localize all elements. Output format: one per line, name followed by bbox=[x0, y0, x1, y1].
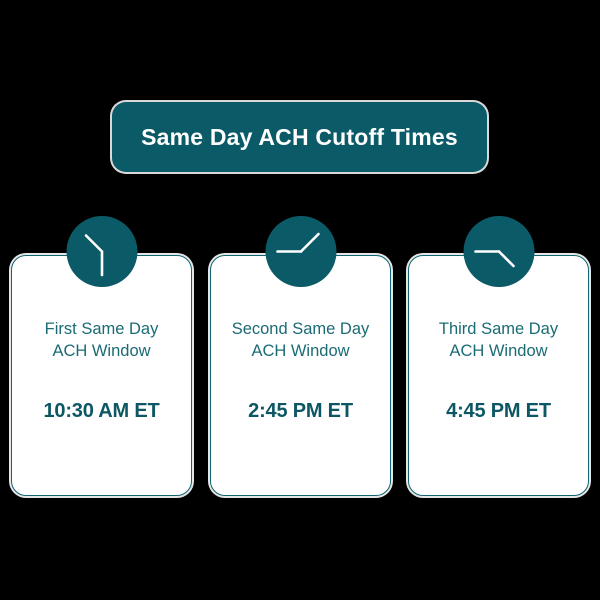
card-content: Second Same Day ACH Window 2:45 PM ET bbox=[211, 256, 390, 495]
card-window-label: Third Same Day ACH Window bbox=[439, 318, 558, 362]
cutoff-card: Third Same Day ACH Window 4:45 PM ET bbox=[408, 216, 589, 496]
card-window-label: First Same Day ACH Window bbox=[45, 318, 159, 362]
card-panel: Second Same Day ACH Window 2:45 PM ET bbox=[210, 255, 391, 496]
clock-icon bbox=[66, 216, 137, 287]
card-panel: First Same Day ACH Window 10:30 AM ET bbox=[11, 255, 192, 496]
cutoff-card-list: First Same Day ACH Window 10:30 AM ET Se… bbox=[0, 216, 600, 506]
card-window-label: Second Same Day ACH Window bbox=[232, 318, 370, 362]
page-title: Same Day ACH Cutoff Times bbox=[141, 124, 458, 151]
header-banner: Same Day ACH Cutoff Times bbox=[112, 102, 487, 172]
card-cutoff-time: 2:45 PM ET bbox=[248, 400, 353, 423]
same-day-ach-cutoff-infographic: Same Day ACH Cutoff Times First Same Day… bbox=[0, 0, 600, 600]
card-content: First Same Day ACH Window 10:30 AM ET bbox=[12, 256, 191, 495]
card-cutoff-time: 4:45 PM ET bbox=[446, 400, 551, 423]
clock-icon bbox=[463, 216, 534, 287]
cutoff-card: First Same Day ACH Window 10:30 AM ET bbox=[11, 216, 192, 496]
card-panel: Third Same Day ACH Window 4:45 PM ET bbox=[408, 255, 589, 496]
card-content: Third Same Day ACH Window 4:45 PM ET bbox=[409, 256, 588, 495]
clock-icon bbox=[265, 216, 336, 287]
cutoff-card: Second Same Day ACH Window 2:45 PM ET bbox=[210, 216, 391, 496]
card-cutoff-time: 10:30 AM ET bbox=[44, 400, 160, 423]
